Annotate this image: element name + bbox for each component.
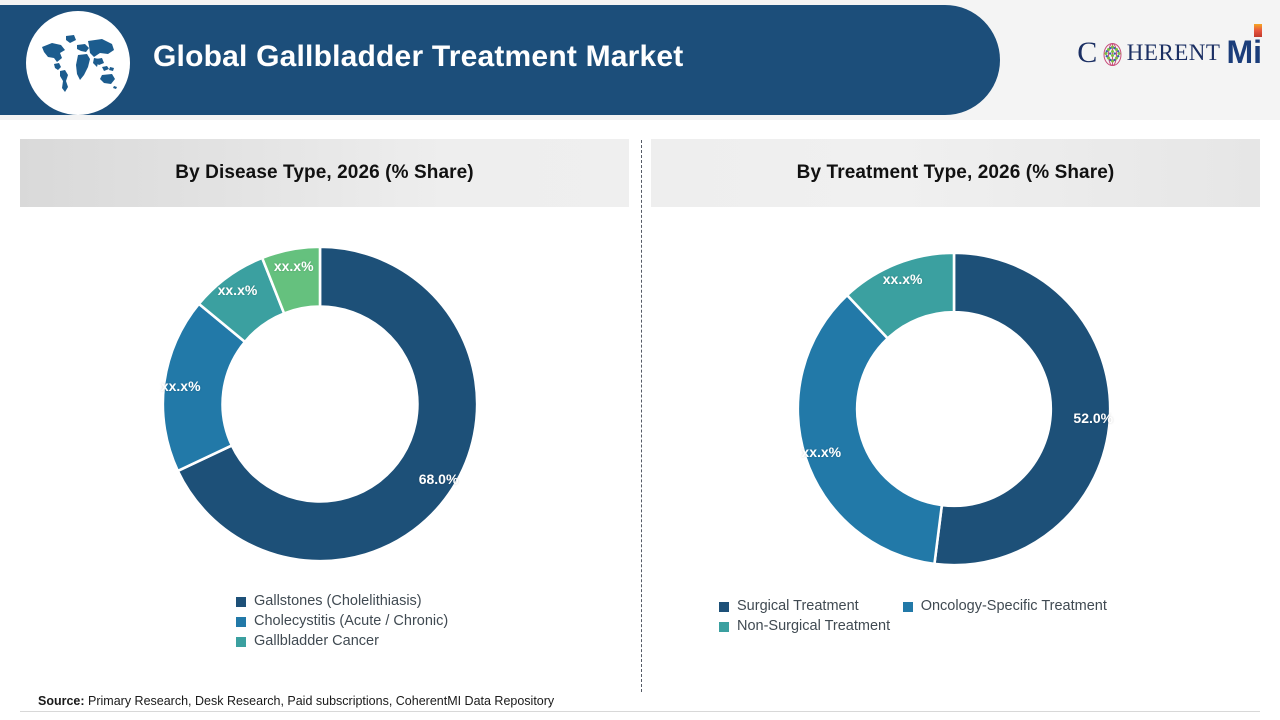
footer-divider xyxy=(20,711,1260,712)
legend-swatch-icon xyxy=(236,617,246,627)
legend-swatch-icon xyxy=(719,602,729,612)
donut-chart-treatment-type: 52.0%xx.x%xx.x% xyxy=(793,248,1115,570)
globe-o-icon xyxy=(1100,42,1125,67)
donut-svg-left xyxy=(158,242,482,566)
legend-swatch-icon xyxy=(236,637,246,647)
panel-divider xyxy=(641,140,642,692)
legend-item[interactable]: Gallstones (Cholelithiasis) xyxy=(236,593,422,609)
legend-row: Surgical TreatmentOncology-Specific Trea… xyxy=(719,598,1239,614)
source-label: Source: xyxy=(38,694,85,708)
world-map-globe-icon xyxy=(26,11,130,115)
header-band: Global Gallbladder Treatment Market C xyxy=(0,0,1280,120)
legend-treatment-type: Surgical TreatmentOncology-Specific Trea… xyxy=(719,598,1239,638)
donut-slice xyxy=(798,295,942,564)
page-title: Global Gallbladder Treatment Market xyxy=(153,40,683,74)
coherentmi-logo: C xyxy=(1077,34,1262,71)
legend-row: Cholecystitis (Acute / Chronic) xyxy=(236,613,492,629)
source-text: Primary Research, Desk Research, Paid su… xyxy=(85,694,555,708)
legend-row: Gallstones (Cholelithiasis) xyxy=(236,593,492,609)
panel-title-right: By Treatment Type, 2026 (% Share) xyxy=(797,162,1115,184)
source-note: Source: Primary Research, Desk Research,… xyxy=(38,694,554,708)
logo-text-herent: HERENT xyxy=(1127,40,1221,66)
logo-letter-c: C xyxy=(1077,36,1098,70)
donut-slice xyxy=(934,253,1110,565)
legend-swatch-icon xyxy=(236,597,246,607)
panel-header-disease-type: By Disease Type, 2026 (% Share) xyxy=(20,139,629,207)
legend-label: Non-Surgical Treatment xyxy=(737,618,890,634)
panel-header-treatment-type: By Treatment Type, 2026 (% Share) xyxy=(651,139,1260,207)
legend-swatch-icon xyxy=(903,602,913,612)
legend-item[interactable]: Oncology-Specific Treatment xyxy=(903,598,1107,614)
logo-mi-letters: Mi xyxy=(1226,34,1262,70)
donut-chart-disease-type: 68.0%xx.x%xx.x%xx.x% xyxy=(158,242,482,566)
infographic-page: Global Gallbladder Treatment Market C xyxy=(0,0,1280,720)
donut-svg-right xyxy=(793,248,1115,570)
panel-title-left: By Disease Type, 2026 (% Share) xyxy=(175,162,473,184)
legend-label: Gallstones (Cholelithiasis) xyxy=(254,593,422,609)
legend-row: Non-Surgical Treatment xyxy=(719,618,1239,634)
legend-item[interactable]: Surgical Treatment xyxy=(719,598,859,614)
logo-gradient-bar xyxy=(1254,24,1262,37)
legend-label: Gallbladder Cancer xyxy=(254,633,379,649)
legend-label: Surgical Treatment xyxy=(737,598,859,614)
legend-disease-type: Gallstones (Cholelithiasis)Cholecystitis… xyxy=(236,593,492,653)
legend-swatch-icon xyxy=(719,622,729,632)
legend-item[interactable]: Cholecystitis (Acute / Chronic) xyxy=(236,613,448,629)
legend-label: Oncology-Specific Treatment xyxy=(921,598,1107,614)
legend-row: Gallbladder Cancer xyxy=(236,633,492,649)
legend-label: Cholecystitis (Acute / Chronic) xyxy=(254,613,448,629)
logo-text-mi: Mi xyxy=(1226,34,1262,71)
legend-item[interactable]: Non-Surgical Treatment xyxy=(719,618,890,634)
legend-item[interactable]: Gallbladder Cancer xyxy=(236,633,379,649)
